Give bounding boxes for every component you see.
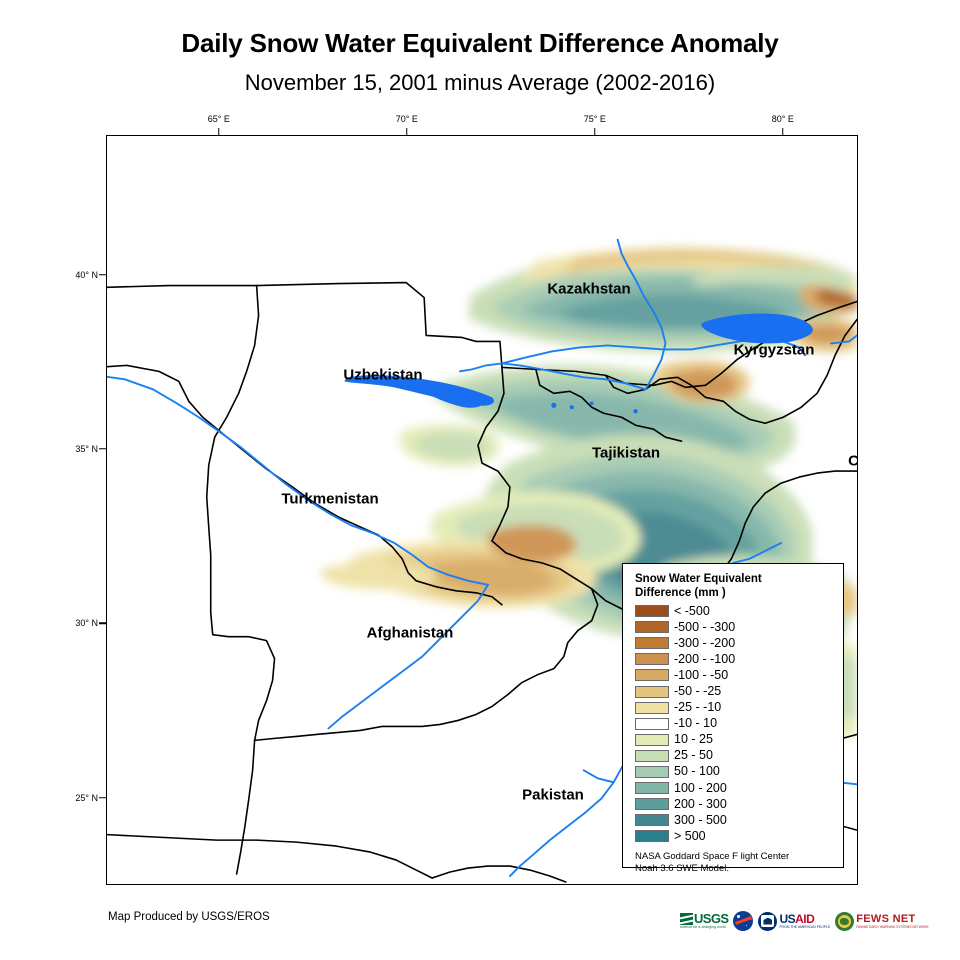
legend-color-swatch bbox=[635, 734, 669, 746]
legend-color-swatch bbox=[635, 637, 669, 649]
fews-tagline: FAMINE EARLY WARNING SYSTEMS NETWORK bbox=[856, 925, 928, 930]
lon-tick-label: 80° E bbox=[772, 114, 794, 124]
fews-wordmark: FEWS NET bbox=[856, 913, 928, 925]
lon-tick-mark bbox=[594, 128, 596, 135]
legend-entry-label: 25 - 50 bbox=[674, 749, 713, 762]
lat-tick-label: 40° N bbox=[56, 270, 98, 280]
usaid-tagline: FROM THE AMERICAN PEOPLE bbox=[779, 925, 830, 930]
usaid-wordmark-us: US bbox=[779, 912, 795, 926]
map-legend[interactable]: Snow Water Equivalent Difference (mm ) <… bbox=[622, 563, 844, 868]
legend-color-swatch bbox=[635, 653, 669, 665]
legend-source-line2: Noah 3.6 SWE Model. bbox=[635, 863, 835, 875]
legend-entry-label: -100 - -50 bbox=[674, 669, 728, 682]
lon-tick-mark bbox=[406, 128, 408, 135]
legend-entry: -200 - -100 bbox=[635, 651, 843, 667]
legend-entry-list: < -500-500 - -300-300 - -200-200 - -100-… bbox=[635, 603, 843, 844]
lon-tick-label: 70° E bbox=[396, 114, 418, 124]
legend-color-swatch bbox=[635, 686, 669, 698]
legend-entry-label: 300 - 500 bbox=[674, 814, 727, 827]
legend-entry: 100 - 200 bbox=[635, 780, 843, 796]
legend-color-swatch bbox=[635, 669, 669, 681]
legend-entry-label: -500 - -300 bbox=[674, 621, 735, 634]
legend-entry-label: 10 - 25 bbox=[674, 733, 713, 746]
legend-color-swatch bbox=[635, 750, 669, 762]
legend-title-line1: Snow Water Equivalent bbox=[635, 572, 835, 586]
legend-color-swatch bbox=[635, 782, 669, 794]
lon-tick-mark bbox=[218, 128, 220, 135]
legend-entry-label: < -500 bbox=[674, 605, 710, 618]
page-title: Daily Snow Water Equivalent Difference A… bbox=[0, 28, 960, 59]
legend-entry: -500 - -300 bbox=[635, 619, 843, 635]
lat-tick-label: 25° N bbox=[56, 793, 98, 803]
legend-entry: 10 - 25 bbox=[635, 732, 843, 748]
lat-tick-mark bbox=[99, 448, 106, 450]
legend-entry: 300 - 500 bbox=[635, 812, 843, 828]
legend-entry: -25 - -10 bbox=[635, 700, 843, 716]
legend-color-swatch bbox=[635, 605, 669, 617]
legend-entry-label: -200 - -100 bbox=[674, 653, 735, 666]
legend-entry: -50 - -25 bbox=[635, 683, 843, 699]
legend-color-swatch bbox=[635, 718, 669, 730]
legend-entry-label: 100 - 200 bbox=[674, 782, 727, 795]
legend-source-note: NASA Goddard Space F light Center Noah 3… bbox=[635, 851, 835, 875]
lon-tick-mark bbox=[782, 128, 784, 135]
usaid-logo[interactable]: USAID FROM THE AMERICAN PEOPLE bbox=[758, 910, 830, 932]
usgs-tagline: science for a changing world bbox=[680, 925, 726, 930]
lat-tick-mark bbox=[99, 623, 106, 625]
legend-entry-label: -50 - -25 bbox=[674, 685, 721, 698]
legend-entry: -100 - -50 bbox=[635, 667, 843, 683]
legend-entry: 200 - 300 bbox=[635, 796, 843, 812]
legend-entry-label: 200 - 300 bbox=[674, 798, 727, 811]
legend-entry: 25 - 50 bbox=[635, 748, 843, 764]
lat-tick-label: 35° N bbox=[56, 444, 98, 454]
lat-tick-label: 30° N bbox=[56, 618, 98, 628]
legend-title-line2: Difference (mm ) bbox=[635, 586, 835, 600]
lon-tick-label: 65° E bbox=[208, 114, 230, 124]
usgs-logo[interactable]: USGS science for a changing world bbox=[680, 910, 728, 932]
legend-color-swatch bbox=[635, 621, 669, 633]
usaid-wordmark-aid: AID bbox=[795, 912, 814, 926]
legend-entry-label: -25 - -10 bbox=[674, 701, 721, 714]
legend-entry: -10 - 10 bbox=[635, 716, 843, 732]
map-credit: Map Produced by USGS/EROS bbox=[108, 911, 270, 923]
lat-tick-mark bbox=[99, 797, 106, 799]
legend-entry: > 500 bbox=[635, 828, 843, 844]
legend-entry-label: -10 - 10 bbox=[674, 717, 717, 730]
legend-entry-label: 50 - 100 bbox=[674, 765, 720, 778]
legend-color-swatch bbox=[635, 830, 669, 842]
legend-entry-label: > 500 bbox=[674, 830, 706, 843]
legend-color-swatch bbox=[635, 798, 669, 810]
legend-entry: < -500 bbox=[635, 603, 843, 619]
page-subtitle: November 15, 2001 minus Average (2002-20… bbox=[0, 70, 960, 96]
lon-tick-label: 75° E bbox=[584, 114, 606, 124]
legend-source-line1: NASA Goddard Space F light Center bbox=[635, 851, 835, 863]
legend-color-swatch bbox=[635, 814, 669, 826]
agency-logo-strip: USGS science for a changing world USAID … bbox=[680, 908, 929, 934]
legend-color-swatch bbox=[635, 766, 669, 778]
usaid-seal-icon bbox=[758, 912, 777, 931]
legend-entry-label: -300 - -200 bbox=[674, 637, 735, 650]
fews-net-logo[interactable]: FEWS NET FAMINE EARLY WARNING SYSTEMS NE… bbox=[835, 910, 928, 932]
lat-tick-mark bbox=[99, 274, 106, 276]
nasa-logo[interactable] bbox=[733, 911, 753, 931]
fews-globe-icon bbox=[835, 912, 854, 931]
legend-title: Snow Water Equivalent Difference (mm ) bbox=[635, 572, 835, 600]
usgs-wave-icon bbox=[680, 913, 693, 925]
legend-color-swatch bbox=[635, 702, 669, 714]
legend-entry: 50 - 100 bbox=[635, 764, 843, 780]
usgs-wordmark: USGS bbox=[694, 912, 728, 925]
legend-entry: -300 - -200 bbox=[635, 635, 843, 651]
